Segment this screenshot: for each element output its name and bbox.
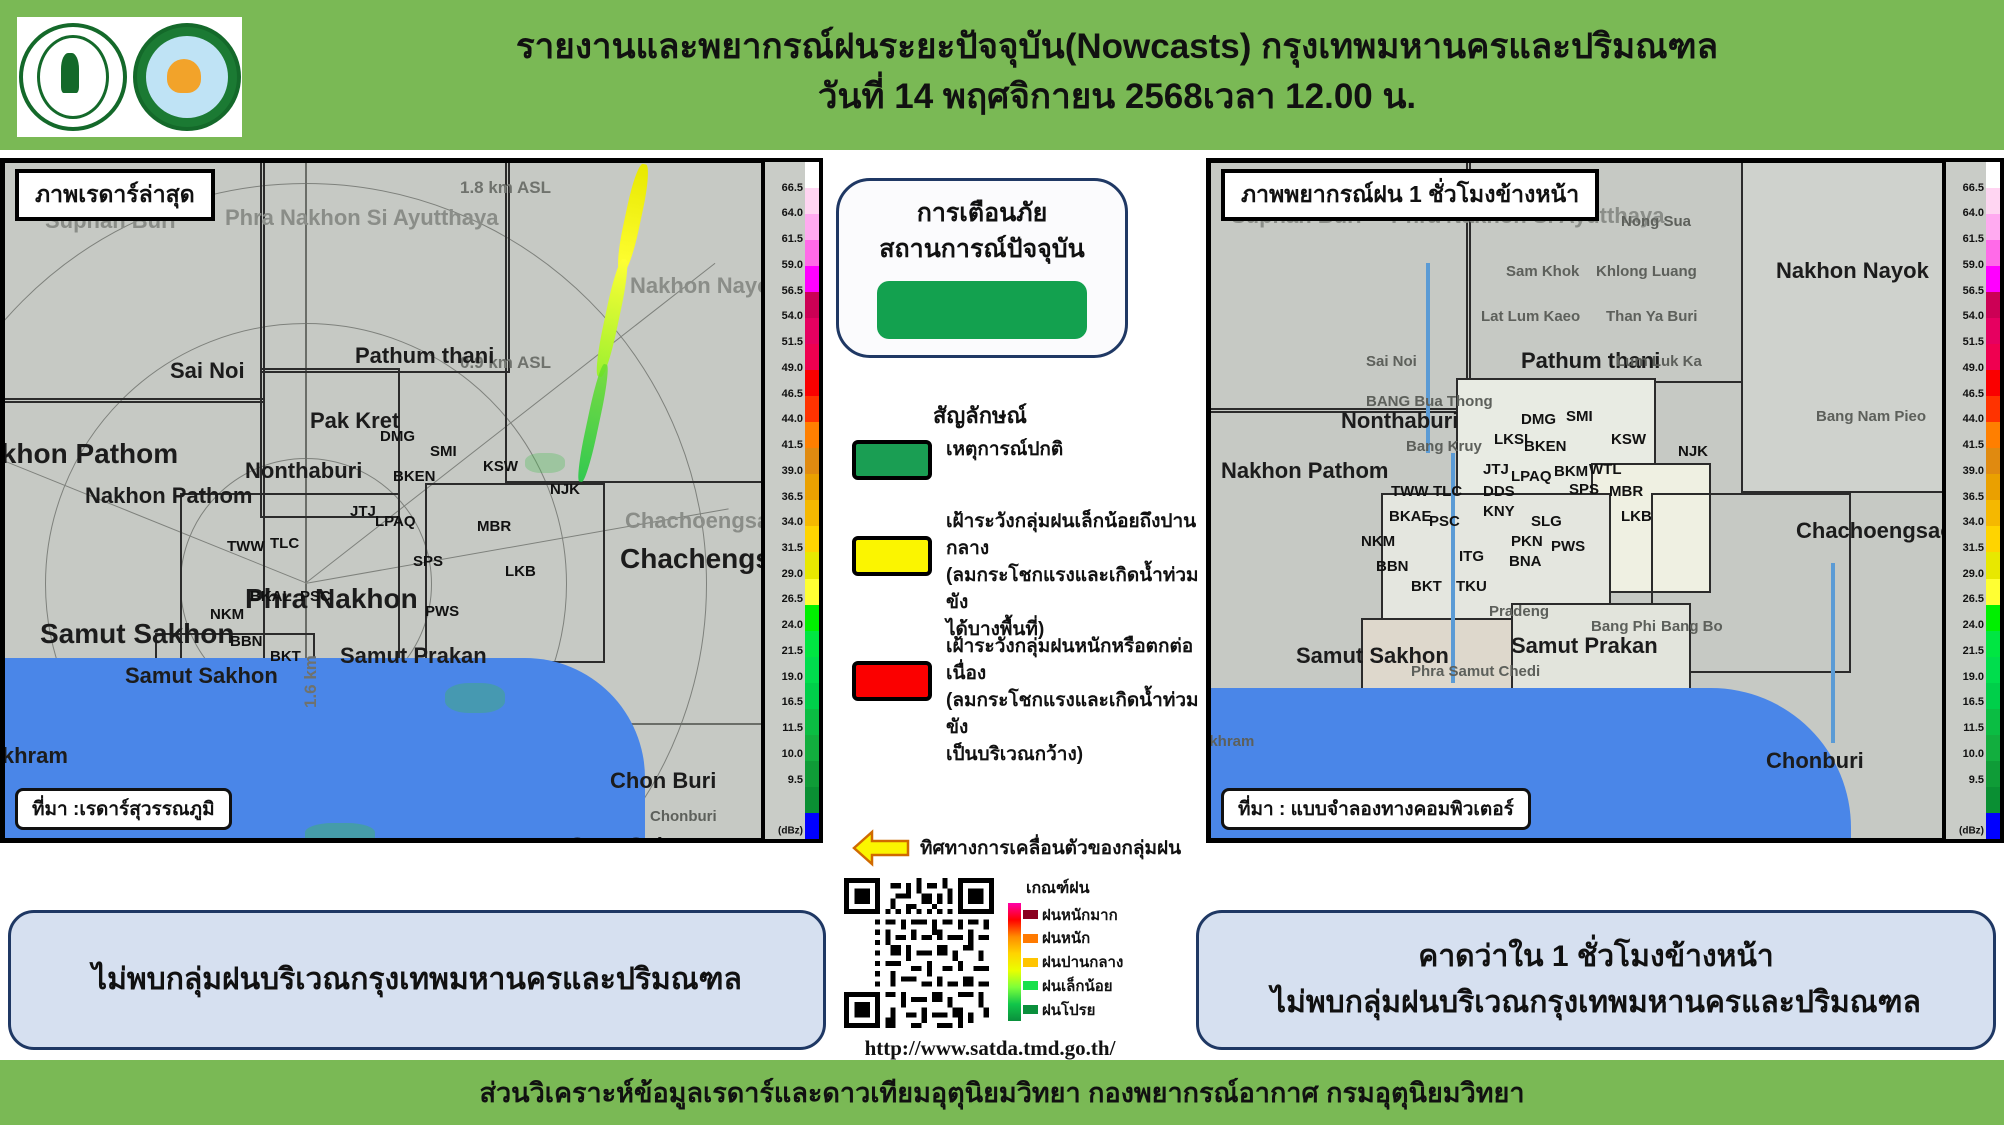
district-code-smi: SMI (430, 443, 457, 460)
colorbar-tick-9.5: 9.5 (1969, 774, 1984, 786)
forecast-map-panel[interactable]: Suphan Buri Phra Nakhon Si Ayutthaya Non… (1206, 158, 2004, 843)
fc-code-bken: BKEN (1524, 438, 1567, 455)
place-label-saensuk: Saen Suk (570, 833, 669, 843)
colorbar-tick-49.0: 49.0 (782, 362, 803, 374)
page-footer: ส่วนวิเคราะห์ข้อมูลเรดาร์และดาวเทียมอุตุ… (0, 1060, 2004, 1125)
legend-column: การเตือนภัย สถานการณ์ปัจจุบัน สัญลักษณ์ … (830, 158, 1202, 1053)
altitude-label-3: 1.6 km (301, 655, 321, 708)
footer-text: ส่วนวิเคราะห์ข้อมูลเรดาร์และดาวเทียมอุตุ… (479, 1071, 1524, 1114)
rain-scale-label-3: ฝนเล็กน้อย (1042, 974, 1113, 998)
place-label-nonthaburi: Nonthaburi (245, 458, 362, 484)
colorbar-swatch-12 (805, 474, 819, 500)
fc-place-phrasamutchedi: Phra Samut Chedi (1411, 663, 1540, 680)
district-code-nkm: NKM (210, 606, 244, 623)
colorbar-swatches-left (805, 162, 819, 839)
colorbar-swatch-25 (1986, 813, 2000, 839)
legend-item-movement: ทิศทางการเคลื่อนตัวของกลุ่มฝน (830, 828, 1181, 868)
colorbar-tick-24.0: 24.0 (782, 619, 803, 631)
fc-place-songkhram: ngkhram (1206, 733, 1254, 750)
rain-scale-gradient (1008, 903, 1021, 1021)
colorbar-swatch-18 (1986, 631, 2000, 657)
legend-title: สัญลักษณ์ (830, 398, 1130, 433)
fc-place-bangkruy: Bang Kruy (1406, 438, 1482, 455)
fc-place-bangbo: Bang Bo (1661, 618, 1723, 635)
legend-swatch-yellow (852, 536, 932, 576)
legend-swatch-red (852, 661, 932, 701)
colorbar-swatch-4 (805, 266, 819, 292)
place-label-chonburi-small: Chonburi (650, 808, 717, 825)
colorbar-swatch-0 (805, 162, 819, 188)
forecast-summary-line2: ไม่พบกลุ่มฝนบริเวณกรุงเทพมหานครและปริมณฑ… (1271, 980, 1921, 1026)
colorbar-tick-39.0: 39.0 (782, 465, 803, 477)
colorbar-swatch-17 (805, 605, 819, 631)
website-url[interactable]: http://www.satda.tmd.go.th/ (830, 1036, 1150, 1061)
legend-label-watch-heavy: เฝ้าระวังกลุ่มฝนหนักหรือตกต่อเนื่อง (ลมก… (946, 633, 1202, 768)
colorbar-tick-19.0: 19.0 (1963, 671, 1984, 683)
rain-scale-chip-4 (1023, 1005, 1038, 1014)
fc-code-mbr: MBR (1609, 483, 1643, 500)
colorbar-tick-16.5: 16.5 (1963, 696, 1984, 708)
rain-scale-label-4: ฝนโปรย (1042, 998, 1095, 1022)
fc-code-slg: SLG (1531, 513, 1562, 530)
fc-code-jtj: JTJ (1483, 461, 1509, 478)
colorbar-swatch-22 (805, 735, 819, 761)
fc-code-dds: DDS (1483, 483, 1515, 500)
colorbar-swatch-3 (1986, 240, 2000, 266)
fc-code-pkn: PKN (1511, 533, 1543, 550)
colorbar-tick-64.0: 64.0 (1963, 207, 1984, 219)
radar-summary-line1: ไม่พบกลุ่มฝนบริเวณกรุงเทพมหานครและปริมณฑ… (92, 957, 742, 1003)
colorbar-swatch-20 (1986, 683, 2000, 709)
colorbar-tick-54.0: 54.0 (782, 310, 803, 322)
colorbar-swatch-1 (1986, 188, 2000, 214)
rain-scale-label-1: ฝนหนัก (1042, 926, 1090, 950)
colorbar-tick-11.5: 11.5 (1963, 722, 1984, 734)
fc-place-samutprakan: Samut Prakan (1511, 633, 1658, 659)
place-label-chachoengsao: Chachoengsao (625, 508, 783, 534)
colorbar-swatch-2 (1986, 214, 2000, 240)
colorbar-swatch-6 (1986, 318, 2000, 344)
fc-place-samkhok: Sam Khok (1506, 263, 1579, 280)
colorbar-tick-51.5: 51.5 (782, 336, 803, 348)
forecast-panel-source: ที่มา : แบบจำลองทางคอมพิวเตอร์ (1221, 788, 1531, 830)
place-label-ayutthaya: Phra Nakhon Si Ayutthaya (225, 205, 498, 231)
colorbar-tick-44.0: 44.0 (782, 413, 803, 425)
movement-arrow-icon (852, 828, 910, 868)
colorbar-swatch-23 (1986, 761, 2000, 787)
colorbar-swatch-21 (1986, 709, 2000, 735)
colorbar-swatch-9 (1986, 396, 2000, 422)
colorbar-swatch-18 (805, 631, 819, 657)
colorbar-tick-11.5: 11.5 (782, 722, 803, 734)
fc-code-lpaq: LPAQ (1511, 468, 1552, 485)
rain-scale-item-0: ฝนหนักมาก (1023, 903, 1198, 926)
colorbar-tick-19.0: 19.0 (782, 671, 803, 683)
district-code-lpaq: LPAQ (375, 513, 416, 530)
place-label-pathumthani: Pathum thani (355, 343, 494, 369)
district-code-bken: BKEN (393, 468, 436, 485)
colorbar-tick-29.0: 29.0 (782, 568, 803, 580)
fc-place-chachoengsao: Chachoengsao (1796, 518, 1954, 544)
page-title-line1: รายงานและพยากรณ์ฝนระยะปัจจุบัน(Nowcasts)… (250, 22, 1984, 72)
colorbar-tick-21.5: 21.5 (1963, 645, 1984, 657)
district-code-tww: TWW (227, 538, 264, 555)
colorbar-tick-49.0: 49.0 (1963, 362, 1984, 374)
colorbar-tick-9.5: 9.5 (788, 774, 803, 786)
warning-status-badge (877, 281, 1087, 339)
agency-logos (17, 17, 242, 137)
district-code-lkb: LKB (505, 563, 536, 580)
colorbar-tick-16.5: 16.5 (782, 696, 803, 708)
altitude-label-1: 1.8 km ASL (460, 178, 551, 198)
colorbar-swatch-5 (1986, 292, 2000, 318)
colorbar-swatch-17 (1986, 605, 2000, 631)
fc-code-ksw: KSW (1611, 431, 1646, 448)
fc-place-nongsua: Nong Sua (1621, 213, 1691, 230)
colorbar-tick-26.5: 26.5 (782, 593, 803, 605)
fc-code-bna: BNA (1509, 553, 1542, 570)
radar-map-canvas[interactable]: 1.8 km ASL 0.9 km ASL 1.6 km Suphan Buri… (5, 163, 818, 838)
colorbar-tick-34.0: 34.0 (782, 516, 803, 528)
colorbar-swatch-22 (1986, 735, 2000, 761)
rain-scale-item-1: ฝนหนัก (1023, 927, 1198, 950)
forecast-map-canvas[interactable]: Suphan Buri Phra Nakhon Si Ayutthaya Non… (1211, 163, 1999, 838)
legend-item-watch-light: เฝ้าระวังกลุ่มฝนเล็กน้อยถึงปานกลาง (ลมกร… (830, 508, 1202, 643)
district-code-bbn: BBN (230, 633, 263, 650)
colorbar-tick-66.5: 66.5 (782, 182, 803, 194)
colorbar-tick-labels-right: 66.564.061.559.056.554.051.549.046.544.0… (1946, 162, 1986, 839)
colorbar-tick-29.0: 29.0 (1963, 568, 1984, 580)
fc-place-nakhonnayok: Nakhon Nayok (1776, 258, 1929, 284)
colorbar-swatch-19 (1986, 657, 2000, 683)
colorbar-swatch-20 (805, 683, 819, 709)
legend-label-watch-light: เฝ้าระวังกลุ่มฝนเล็กน้อยถึงปานกลาง (ลมกร… (946, 508, 1202, 643)
fc-code-wtl: WTL (1589, 461, 1621, 478)
district-code-tlc: TLC (270, 535, 299, 552)
page-title: รายงานและพยากรณ์ฝนระยะปัจจุบัน(Nowcasts)… (250, 22, 1984, 122)
page-title-line2: วันที่ 14 พฤศจิกายน 2568เวลา 12.00 น. (250, 72, 1984, 122)
colorbar-swatch-10 (1986, 422, 2000, 448)
rain-scale-label-0: ฝนหนักมาก (1042, 903, 1118, 927)
colorbar-tick-61.5: 61.5 (1963, 233, 1984, 245)
colorbar-swatch-12 (1986, 474, 2000, 500)
place-label-samutsakhon: Samut Sakhon (125, 663, 278, 689)
fc-code-sps: SPS (1569, 481, 1599, 498)
colorbar-swatch-1 (805, 188, 819, 214)
fc-code-dmg: DMG (1521, 411, 1556, 428)
colorbar-swatch-15 (805, 552, 819, 578)
rain-scale-label-2: ฝนปานกลาง (1042, 950, 1123, 974)
colorbar-tick-64.0: 64.0 (782, 207, 803, 219)
colorbar-swatch-25 (805, 813, 819, 839)
fc-code-bbn: BBN (1376, 558, 1409, 575)
district-code-bkt: BKT (270, 648, 301, 665)
rain-scale-item-2: ฝนปานกลาง (1023, 951, 1198, 974)
legend-item-normal: เหตุการณ์ปกติ (830, 436, 1202, 480)
colorbar-tick-46.5: 46.5 (782, 388, 803, 400)
fc-code-smi: SMI (1566, 408, 1593, 425)
legend-label-normal: เหตุการณ์ปกติ (946, 436, 1063, 463)
colorbar-swatch-13 (805, 500, 819, 526)
colorbar-swatch-14 (805, 526, 819, 552)
radar-echo-cell-5 (305, 823, 375, 843)
colorbar-swatch-0 (1986, 162, 2000, 188)
colorbar-tick-51.5: 51.5 (1963, 336, 1984, 348)
fc-code-tku: TKU (1456, 578, 1487, 595)
colorbar-tick-36.5: 36.5 (782, 491, 803, 503)
colorbar-swatch-14 (1986, 526, 2000, 552)
district-code-ksw: KSW (483, 458, 518, 475)
colorbar-tick-41.5: 41.5 (782, 439, 803, 451)
warning-title-line2: สถานการณ์ปัจจุบัน (839, 231, 1125, 267)
district-code-dmg: DMG (380, 428, 415, 445)
colorbar-swatches-right (1986, 162, 2000, 839)
radar-map-panel[interactable]: 1.8 km ASL 0.9 km ASL 1.6 km Suphan Buri… (0, 158, 823, 843)
fc-code-psc: PSC (1429, 513, 1460, 530)
fc-code-lkb: LKB (1621, 508, 1652, 525)
district-code-mbr: MBR (477, 518, 511, 535)
royal-rainmaking-seal-icon (19, 23, 127, 131)
page-header: รายงานและพยากรณ์ฝนระยะปัจจุบัน(Nowcasts)… (0, 0, 2004, 150)
colorbar-tick-36.5: 36.5 (1963, 491, 1984, 503)
fc-place-bangnampieo: Bang Nam Pieo (1816, 408, 1926, 425)
fc-place-thanyaburi: Than Ya Buri (1606, 308, 1697, 325)
radar-echo-cell-6 (525, 453, 565, 473)
fc-code-itg: ITG (1459, 548, 1484, 565)
rain-scale-chip-0 (1023, 910, 1038, 919)
radar-summary-box: ไม่พบกลุ่มฝนบริเวณกรุงเทพมหานครและปริมณฑ… (8, 910, 826, 1050)
rain-scale-items: ฝนหนักมากฝนหนักฝนปานกลางฝนเล็กน้อยฝนโปรย (1021, 903, 1198, 1021)
place-label-chonburi: Chon Buri (610, 768, 716, 794)
place-label-nakhonpathom: Nakhon Pathom (85, 483, 252, 509)
colorbar-swatch-16 (805, 579, 819, 605)
colorbar-swatch-15 (1986, 552, 2000, 578)
fc-place-chonburi: Chonburi (1766, 748, 1864, 774)
district-code-jtj: JTJ (350, 503, 376, 520)
fc-place-bangphi: Bang Phi (1591, 618, 1656, 635)
colorbar-swatch-21 (805, 709, 819, 735)
colorbar-tick-41.5: 41.5 (1963, 439, 1984, 451)
colorbar-tick-21.5: 21.5 (782, 645, 803, 657)
fc-code-bkae: BKAE (1389, 508, 1432, 525)
fc-code-tlc: TLC (1433, 483, 1462, 500)
colorbar-tick-34.0: 34.0 (1963, 516, 1984, 528)
fc-place-sainoi: Sai Noi (1366, 353, 1417, 370)
colorbar-tick-61.5: 61.5 (782, 233, 803, 245)
legend-swatch-green (852, 440, 932, 480)
fc-place-lumlukka: Lum Luk Ka (1616, 353, 1702, 370)
colorbar-tick-10.0: 10.0 (782, 748, 803, 760)
legend-label-movement: ทิศทางการเคลื่อนตัวของกลุ่มฝน (920, 835, 1181, 862)
fc-code-kny: KNY (1483, 503, 1515, 520)
colorbar-swatch-23 (805, 761, 819, 787)
place-label-samutsakhon-big: Samut Sakhon (40, 618, 234, 650)
radar-echo-cell-4 (445, 683, 505, 713)
colorbar-tick-66.5: 66.5 (1963, 182, 1984, 194)
warning-title-line1: การเตือนภัย (839, 195, 1125, 231)
fc-code-bkm: BKM (1554, 463, 1588, 480)
colorbar-swatch-3 (805, 240, 819, 266)
fc-code-pws: PWS (1551, 538, 1585, 555)
colorbar-swatch-5 (805, 292, 819, 318)
colorbar-swatch-7 (805, 344, 819, 370)
qr-code-icon[interactable] (844, 878, 994, 1028)
colorbar-swatch-16 (1986, 579, 2000, 605)
colorbar-tick-labels-left: 66.564.061.559.056.554.051.549.046.544.0… (765, 162, 805, 839)
rain-scale-item-4: ฝนโปรย (1023, 998, 1198, 1021)
colorbar-tick-59.0: 59.0 (1963, 259, 1984, 271)
rain-scale-item-3: ฝนเล็กน้อย (1023, 974, 1198, 997)
radar-panel-source: ที่มา :เรดาร์สุวรรณภูมิ (15, 788, 232, 830)
rain-scale-chip-1 (1023, 934, 1038, 943)
fc-code-bkt: BKT (1411, 578, 1442, 595)
radar-panel-caption: ภาพเรดาร์ล่าสุด (15, 169, 215, 221)
colorbar-unit: (dBz) (1959, 826, 1984, 837)
place-label-songkhram: ngkhram (0, 743, 68, 769)
colorbar-tick-31.5: 31.5 (782, 542, 803, 554)
place-label-samutprakan: Samut Prakan (340, 643, 487, 669)
legend-item-watch-heavy: เฝ้าระวังกลุ่มฝนหนักหรือตกต่อเนื่อง (ลมก… (830, 633, 1202, 768)
place-label-nakhonnayok: Nakhon Nayok (630, 273, 783, 299)
colorbar-swatch-8 (805, 370, 819, 396)
colorbar-tick-56.5: 56.5 (782, 285, 803, 297)
district-code-njk: NJK (550, 481, 580, 498)
colorbar-swatch-13 (1986, 500, 2000, 526)
forecast-panel-caption: ภาพพยากรณ์ฝน 1 ชั่วโมงข้างหน้า (1221, 169, 1599, 221)
rain-scale-chip-3 (1023, 981, 1038, 990)
fc-place-khlongluang: Khlong Luang (1596, 263, 1697, 280)
colorbar-tick-44.0: 44.0 (1963, 413, 1984, 425)
place-label-sainoi: Sai Noi (170, 358, 245, 384)
fc-place-pradeng: Pradeng (1489, 603, 1549, 620)
fc-code-njk: NJK (1678, 443, 1708, 460)
colorbar-swatch-4 (1986, 266, 2000, 292)
colorbar-tick-26.5: 26.5 (1963, 593, 1984, 605)
place-label-nakhonpathom-big: Nakhon Pathom (0, 438, 178, 470)
colorbar-swatch-8 (1986, 370, 2000, 396)
colorbar-swatch-6 (805, 318, 819, 344)
colorbar-tick-10.0: 10.0 (1963, 748, 1984, 760)
forecast-summary-line1: คาดว่าใน 1 ชั่วโมงข้างหน้า (1418, 934, 1773, 980)
forecast-summary-box: คาดว่าใน 1 ชั่วโมงข้างหน้า ไม่พบกลุ่มฝนบ… (1196, 910, 1996, 1050)
colorbar-swatch-19 (805, 657, 819, 683)
content-area: 1.8 km ASL 0.9 km ASL 1.6 km Suphan Buri… (0, 150, 2004, 1060)
rain-scale-title: เกณฑ์ฝน (1026, 876, 1198, 901)
colorbar-tick-46.5: 46.5 (1963, 388, 1984, 400)
fc-place-nakhonpathom: Nakhon Pathom (1221, 458, 1388, 484)
district-code-pws: PWS (425, 603, 459, 620)
tmd-seal-icon (133, 23, 241, 131)
colorbar-tick-31.5: 31.5 (1963, 542, 1984, 554)
colorbar-tick-54.0: 54.0 (1963, 310, 1984, 322)
radar-dbz-colorbar: 66.564.061.559.056.554.051.549.046.544.0… (761, 158, 823, 843)
colorbar-swatch-24 (1986, 787, 2000, 813)
district-code-sps: SPS (413, 553, 443, 570)
colorbar-swatch-10 (805, 422, 819, 448)
current-warning-card[interactable]: การเตือนภัย สถานการณ์ปัจจุบัน (836, 178, 1128, 358)
colorbar-tick-59.0: 59.0 (782, 259, 803, 271)
colorbar-swatch-11 (1986, 448, 2000, 474)
colorbar-unit: (dBz) (778, 826, 803, 837)
rain-intensity-scale: เกณฑ์ฝน ฝนหนักมากฝนหนักฝนปานกลางฝนเล็กน้… (1008, 876, 1198, 1021)
rain-scale-chip-2 (1023, 958, 1038, 967)
colorbar-tick-39.0: 39.0 (1963, 465, 1984, 477)
district-code-psc: PSC (300, 588, 331, 605)
fc-code-tww: TWW (1391, 483, 1428, 500)
fc-place-nonthaburi: Nonthaburi (1341, 408, 1458, 434)
colorbar-tick-56.5: 56.5 (1963, 285, 1984, 297)
colorbar-swatch-7 (1986, 344, 2000, 370)
colorbar-swatch-2 (805, 214, 819, 240)
colorbar-swatch-9 (805, 396, 819, 422)
district-code-bkal: BKAL (250, 588, 292, 605)
colorbar-swatch-11 (805, 448, 819, 474)
colorbar-swatch-24 (805, 787, 819, 813)
colorbar-tick-24.0: 24.0 (1963, 619, 1984, 631)
river-bangpakong (1831, 563, 1835, 743)
forecast-dbz-colorbar: 66.564.061.559.056.554.051.549.046.544.0… (1942, 158, 2004, 843)
fc-code-nkm: NKM (1361, 533, 1395, 550)
fc-place-latlumkaeo: Lat Lum Kaeo (1481, 308, 1580, 325)
